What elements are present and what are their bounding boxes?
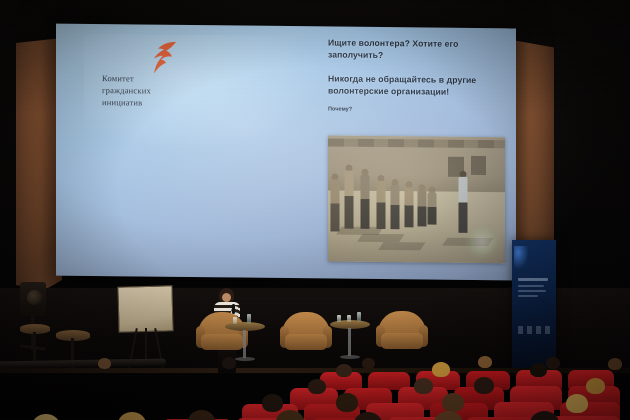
armchair-3 [376,311,428,357]
audience-head [188,410,215,420]
audience-head [474,377,494,394]
water-glass-1 [233,317,237,324]
presenter-face [222,293,231,302]
audience-head [32,414,60,420]
audience-head [442,393,464,412]
audience-head [478,356,492,368]
loudspeaker-driver-icon [27,290,42,305]
audience-head [98,358,111,369]
screen-vignette [56,24,516,281]
audience-seating [0,352,630,420]
audience-head [336,364,352,377]
projection-screen: Комитет гражданских инициатив Ищите воло… [56,24,516,281]
audience-head [566,394,588,413]
banner-title-line [518,278,548,281]
banner-text-line-1 [518,285,544,287]
banner-text-line-2 [518,290,546,292]
banner-text-line-3 [518,295,538,297]
audience-head [432,362,450,377]
audience-head [362,358,375,369]
roll-up-banner [512,240,556,368]
audience-head [586,378,605,394]
auditorium-scene: Комитет гражданских инициатив Ищите воло… [0,0,630,420]
audience-head [118,412,146,420]
audience-head [530,363,547,377]
audience-head [608,358,622,370]
flipchart-board [117,285,173,332]
loudspeaker-cabinet [20,282,46,316]
water-bottle-1 [247,314,251,324]
water-glass-3 [347,315,351,322]
banner-sponsor-logos [518,326,550,334]
audience-head [414,378,433,394]
seat-row-rail [0,359,166,369]
audience-head [546,357,560,369]
audience-head [336,393,358,412]
banner-highlight [514,246,528,268]
audience-head [262,394,283,412]
water-glass-2 [337,315,341,322]
audience-head [308,379,326,394]
water-bottle-2 [357,312,361,322]
audience-head [222,357,236,369]
